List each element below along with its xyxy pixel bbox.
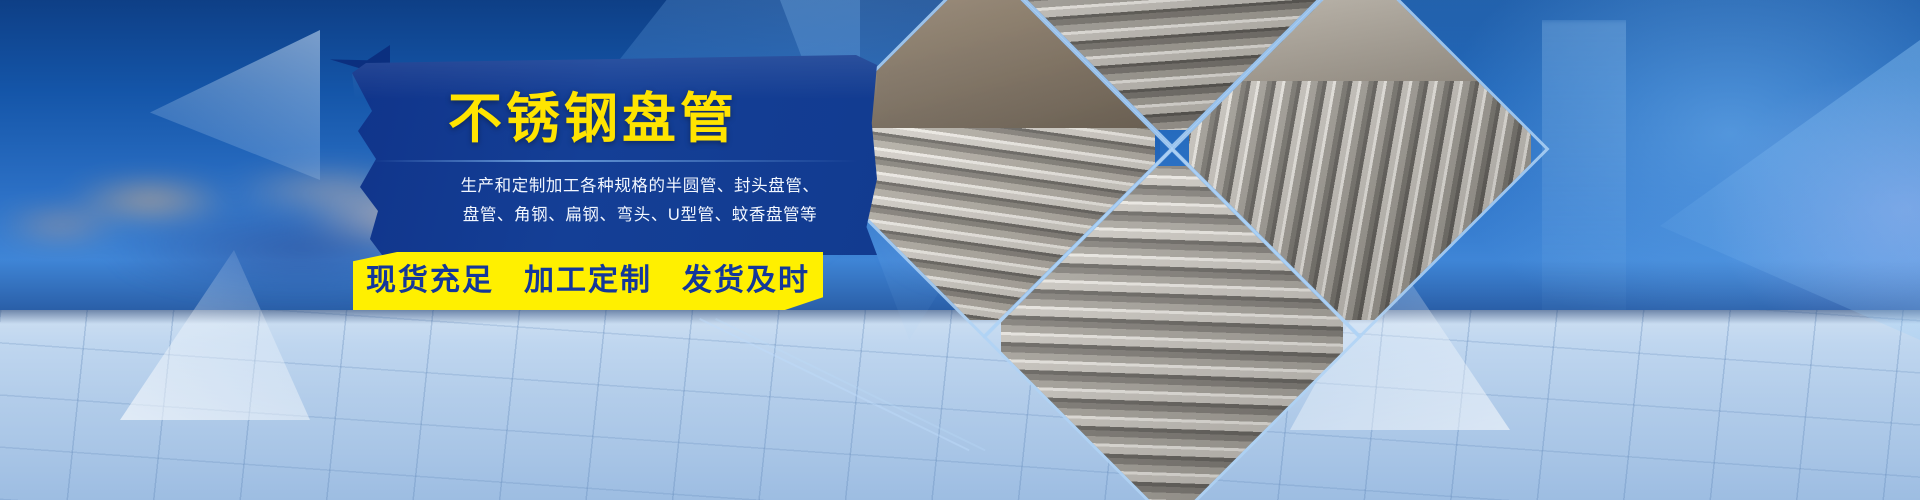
ribbon-panel bbox=[352, 55, 877, 255]
banner-title: 不锈钢盘管 bbox=[448, 92, 738, 146]
banner-subtitle-line-2: 盘管、角钢、扁钢、弯头、U型管、蚊香盘管等 bbox=[390, 201, 890, 225]
banner-subtitle-line-1: 生产和定制加工各种规格的半圆管、封头盘管、 bbox=[390, 172, 890, 196]
highlight-item-1: 现货充足 bbox=[366, 266, 494, 296]
highlight-item-3: 发货及时 bbox=[682, 266, 810, 296]
highlight-strip-text: 现货充足 加工定制 发货及时 bbox=[353, 252, 823, 310]
photo-mosaic bbox=[830, 0, 1450, 500]
title-divider bbox=[372, 160, 858, 162]
product-banner: 不锈钢盘管 生产和定制加工各种规格的半圆管、封头盘管、 盘管、角钢、扁钢、弯头、… bbox=[0, 0, 1920, 500]
highlight-item-2: 加工定制 bbox=[524, 266, 652, 296]
